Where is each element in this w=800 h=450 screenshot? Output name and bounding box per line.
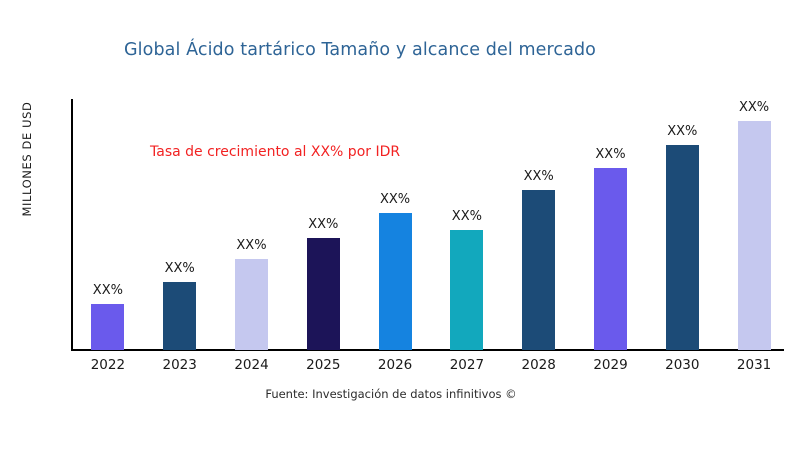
- bar-2024[interactable]: [235, 259, 268, 350]
- bar-chart: Global Ácido tartárico Tamaño y alcance …: [0, 0, 800, 450]
- bar-value-label-2029: XX%: [581, 147, 641, 162]
- bar-2026[interactable]: [379, 213, 412, 350]
- bar-2023[interactable]: [163, 282, 196, 350]
- growth-rate-annotation: Tasa de crecimiento al XX% por IDR: [150, 144, 400, 160]
- x-tick-label-2029: 2029: [576, 357, 646, 373]
- x-tick-label-2030: 2030: [647, 357, 717, 373]
- bar-value-label-2022: XX%: [78, 283, 138, 298]
- y-axis-label: MILLONES DE USD: [20, 49, 34, 269]
- bar-value-label-2031: XX%: [724, 100, 784, 115]
- bar-2030[interactable]: [666, 145, 699, 350]
- bar-value-label-2025: XX%: [293, 217, 353, 232]
- bar-value-label-2027: XX%: [437, 209, 497, 224]
- x-tick-label-2027: 2027: [432, 357, 502, 373]
- bar-2028[interactable]: [522, 190, 555, 350]
- x-tick-label-2023: 2023: [145, 357, 215, 373]
- chart-title: Global Ácido tartárico Tamaño y alcance …: [0, 40, 720, 60]
- source-note: Fuente: Investigación de datos infinitiv…: [0, 387, 782, 401]
- x-tick-label-2024: 2024: [217, 357, 287, 373]
- bar-2029[interactable]: [594, 168, 627, 350]
- bar-2025[interactable]: [307, 238, 340, 350]
- bar-value-label-2024: XX%: [222, 238, 282, 253]
- bar-value-label-2028: XX%: [509, 169, 569, 184]
- x-tick-label-2025: 2025: [288, 357, 358, 373]
- x-tick-label-2026: 2026: [360, 357, 430, 373]
- bar-2031[interactable]: [738, 121, 771, 350]
- x-tick-label-2022: 2022: [73, 357, 143, 373]
- bar-value-label-2030: XX%: [652, 124, 712, 139]
- bar-value-label-2023: XX%: [150, 261, 210, 276]
- bar-value-label-2026: XX%: [365, 192, 425, 207]
- bar-2027[interactable]: [450, 230, 483, 350]
- bar-2022[interactable]: [91, 304, 124, 350]
- x-tick-label-2028: 2028: [504, 357, 574, 373]
- x-tick-label-2031: 2031: [719, 357, 789, 373]
